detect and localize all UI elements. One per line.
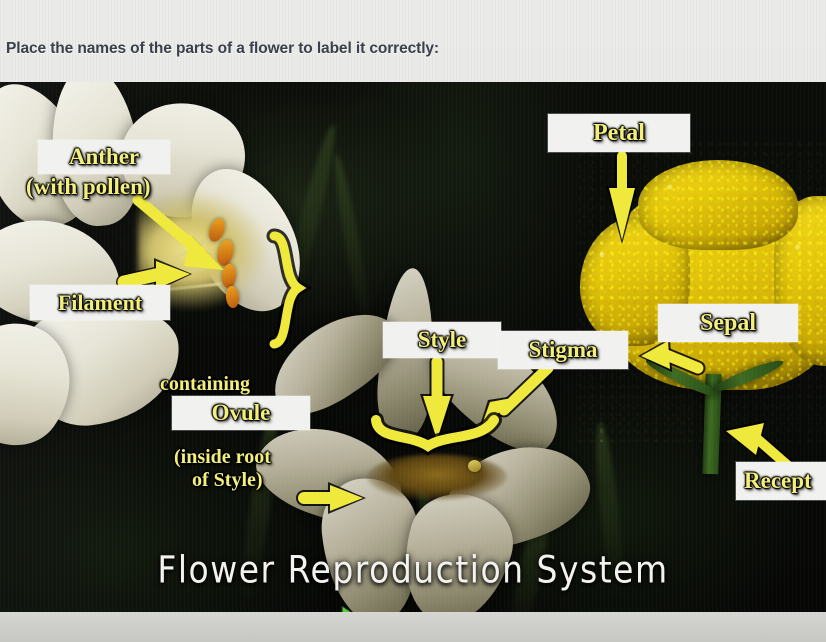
stamen-brace bbox=[268, 230, 314, 350]
label-box-ovule[interactable]: Ovule bbox=[172, 396, 310, 430]
lily-throat bbox=[367, 454, 507, 500]
diagram-caption: Flower Reproduction System bbox=[0, 548, 826, 592]
label-of-style: of Style) bbox=[192, 469, 263, 492]
label-with-pollen: (with pollen) bbox=[26, 174, 151, 200]
petal-arrow bbox=[600, 152, 644, 248]
label-box-style[interactable]: Style bbox=[383, 322, 501, 358]
label-box-petal[interactable]: Petal bbox=[548, 114, 690, 152]
page-bottom-strip bbox=[0, 612, 826, 642]
label-containing: containing bbox=[160, 373, 250, 396]
label-style: Style bbox=[418, 327, 467, 353]
ovule-arrow bbox=[300, 478, 370, 518]
label-box-stigma[interactable]: Stigma bbox=[498, 331, 628, 369]
label-box-anther[interactable]: Anther bbox=[38, 140, 170, 174]
label-stigma: Stigma bbox=[529, 337, 598, 363]
label-petal: Petal bbox=[593, 120, 645, 147]
label-ovule: Ovule bbox=[212, 400, 271, 426]
label-box-filament[interactable]: Filament bbox=[30, 285, 170, 320]
ovary-brace bbox=[370, 412, 500, 458]
label-box-sepal[interactable]: Sepal bbox=[658, 304, 798, 342]
label-sepal: Sepal bbox=[700, 310, 756, 337]
flower-diagram-image: Anther (with pollen) Filament containing… bbox=[0, 82, 826, 612]
page-title: Place the names of the parts of a flower… bbox=[6, 40, 706, 58]
label-anther: Anther bbox=[69, 144, 139, 170]
label-receptacle: Recept bbox=[744, 468, 812, 494]
stigma-bead bbox=[468, 460, 481, 472]
label-inside-root: (inside root bbox=[174, 446, 271, 469]
label-box-receptacle[interactable]: Recept bbox=[736, 462, 826, 500]
label-filament: Filament bbox=[58, 290, 142, 316]
